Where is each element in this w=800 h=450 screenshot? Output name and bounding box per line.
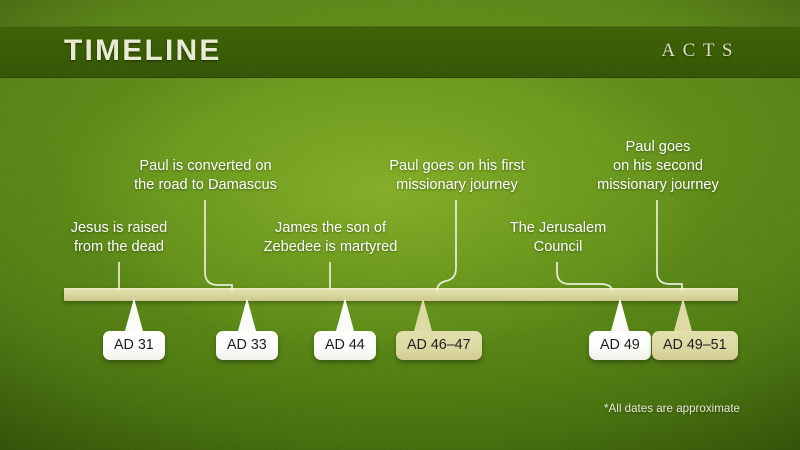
event-label-0: Jesus is raised from the dead bbox=[44, 219, 194, 257]
date-marker-3[interactable]: AD 46–47 bbox=[396, 331, 482, 360]
date-marker-label-1: AD 33 bbox=[227, 337, 267, 353]
marker-tail-5 bbox=[674, 298, 692, 331]
page-title: TIMELINE bbox=[64, 34, 222, 68]
event-label-1: Paul is converted on the road to Damascu… bbox=[113, 157, 298, 195]
marker-tail-2 bbox=[336, 298, 354, 331]
event-label-2: James the son of Zebedee is martyred bbox=[238, 219, 423, 257]
date-marker-box-5[interactable]: AD 49–51 bbox=[652, 331, 738, 360]
event-label-4: The Jerusalem Council bbox=[487, 219, 629, 257]
marker-tail-1 bbox=[238, 298, 256, 331]
date-marker-label-3: AD 46–47 bbox=[407, 337, 471, 353]
footnote: *All dates are approximate bbox=[604, 402, 740, 415]
date-marker-5[interactable]: AD 49–51 bbox=[652, 331, 738, 360]
date-marker-box-2[interactable]: AD 44 bbox=[314, 331, 376, 360]
date-marker-label-5: AD 49–51 bbox=[663, 337, 727, 353]
marker-tail-4 bbox=[611, 298, 629, 331]
event-label-3: Paul goes on his first missionary journe… bbox=[367, 157, 547, 195]
marker-tail-0 bbox=[125, 298, 143, 331]
timeline-slide: TIMELINE ACTS Jesus is raised from the d… bbox=[0, 0, 800, 450]
date-marker-4[interactable]: AD 49 bbox=[589, 331, 651, 360]
date-marker-box-0[interactable]: AD 31 bbox=[103, 331, 165, 360]
date-marker-box-4[interactable]: AD 49 bbox=[589, 331, 651, 360]
date-marker-label-4: AD 49 bbox=[600, 337, 640, 353]
date-marker-1[interactable]: AD 33 bbox=[216, 331, 278, 360]
event-label-5: Paul goes on his second missionary journ… bbox=[578, 138, 738, 195]
date-marker-2[interactable]: AD 44 bbox=[314, 331, 376, 360]
marker-tail-3 bbox=[414, 298, 432, 331]
date-marker-box-3[interactable]: AD 46–47 bbox=[396, 331, 482, 360]
date-marker-box-1[interactable]: AD 33 bbox=[216, 331, 278, 360]
date-marker-0[interactable]: AD 31 bbox=[103, 331, 165, 360]
date-marker-label-0: AD 31 bbox=[114, 337, 154, 353]
date-marker-label-2: AD 44 bbox=[325, 337, 365, 353]
book-name: ACTS bbox=[661, 40, 740, 62]
timeline-axis-bar bbox=[64, 288, 738, 301]
